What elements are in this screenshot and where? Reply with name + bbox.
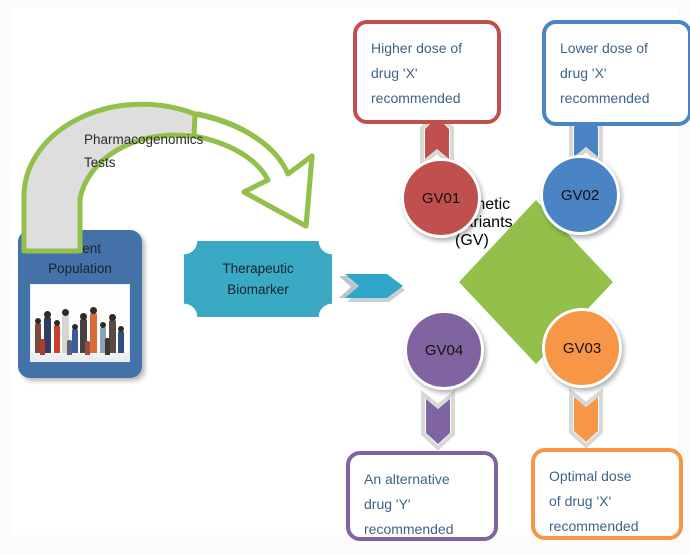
outcome-high-line2: drug 'X' (371, 61, 483, 86)
patient-population-label-line2: Population (48, 259, 112, 279)
pharmacogenomics-tests-arrow (20, 96, 330, 256)
crowd-person (105, 338, 110, 355)
crowd-person (40, 339, 45, 355)
crowd-person (109, 320, 116, 353)
variant-label-gv01: GV01 (422, 190, 460, 207)
outcome-alt-line3: recommended (364, 517, 480, 542)
crowd-person-head (72, 324, 78, 330)
therapeutic-biomarker-node[interactable]: Therapeutic Biomarker (184, 241, 332, 317)
crowd-person (72, 329, 78, 353)
crowd-person (67, 340, 72, 355)
outcome-high-line3: recommended (371, 86, 483, 111)
variant-circle-gv04[interactable]: GV04 (404, 310, 484, 390)
outcome-alt-line2: drug 'Y' (364, 492, 480, 517)
outcome-low-line3: recommended (560, 86, 674, 111)
crowd-person (118, 331, 124, 353)
crowd-person-head (100, 322, 106, 328)
variant-label-gv03: GV03 (563, 340, 601, 357)
outcome-low-line2: drug 'X' (560, 61, 674, 86)
diagram-canvas: Patient Population (12, 8, 678, 535)
outcome-alt-line1: An alternative (364, 467, 480, 492)
crowd-person-head (109, 314, 116, 321)
crowd-person-head (118, 326, 124, 332)
gv03-to-optimal-dose-arrow (565, 386, 607, 448)
outcome-opt-line1: Optimal dose (549, 464, 665, 489)
outcome-box-alternative-drug[interactable]: An alternative drug 'Y' recommended (346, 451, 498, 541)
outcome-box-lower-dose[interactable]: Lower dose of drug 'X' recommended (542, 20, 690, 126)
outcome-opt-line3: recommended (549, 514, 665, 539)
crowd-person-head (80, 313, 87, 320)
crowd-person-head (44, 311, 51, 318)
crowd-person (54, 325, 60, 353)
crowd-person (44, 317, 51, 353)
variant-label-gv02: GV02 (561, 187, 599, 204)
outcome-box-optimal-dose[interactable]: Optimal dose of drug 'X' recommended (531, 448, 683, 540)
pgx-label-line1: Pharmacogenomics (84, 128, 274, 151)
pharmacogenomics-tests-label: Pharmacogenomics Tests (84, 128, 274, 174)
biomarker-label-line2: Biomarker (222, 279, 293, 300)
crowd-person (85, 341, 90, 355)
variant-circle-gv01[interactable]: GV01 (401, 158, 481, 238)
outcome-opt-line2: of drug 'X' (549, 489, 665, 514)
crowd-person (90, 313, 97, 353)
flow-chevron-arrow-icon (337, 266, 417, 310)
outcome-high-line1: Higher dose of (371, 36, 483, 61)
outcome-low-line1: Lower dose of (560, 36, 674, 61)
biomarker-label-line1: Therapeutic (222, 258, 293, 279)
crowd-of-people-photo (30, 284, 130, 362)
variant-circle-gv03[interactable]: GV03 (542, 308, 622, 388)
crowd-person-head (54, 320, 60, 326)
crowd-person-head (62, 309, 69, 316)
crowd-person-head (90, 307, 97, 314)
pgx-label-line2: Tests (84, 151, 274, 174)
variant-circle-gv02[interactable]: GV02 (540, 155, 620, 235)
outcome-box-higher-dose[interactable]: Higher dose of drug 'X' recommended (353, 20, 501, 124)
crowd-person-head (35, 318, 41, 324)
gv04-to-alternative-drug-arrow (417, 388, 459, 450)
variant-label-gv04: GV04 (425, 342, 463, 359)
